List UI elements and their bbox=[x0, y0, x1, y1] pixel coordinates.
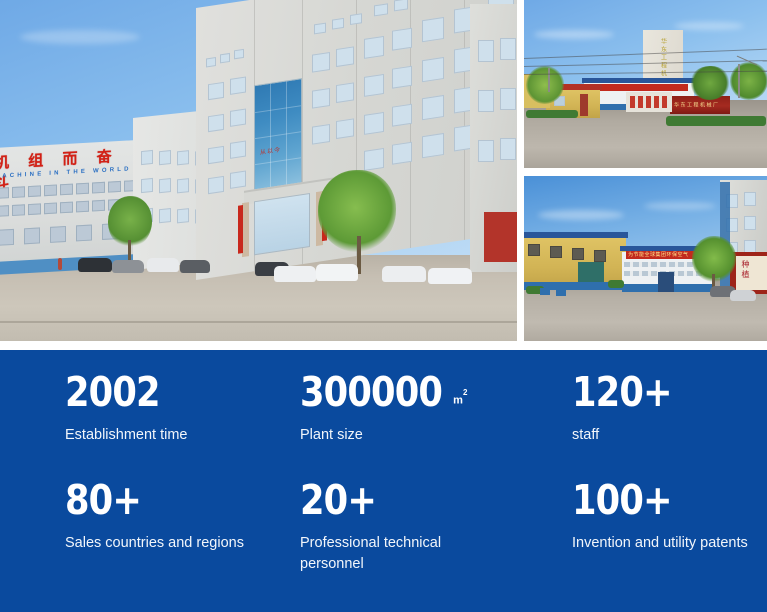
photo-gallery: 机 组 而 奋 斗 MACHINE IN THE WORLD bbox=[0, 0, 767, 341]
main-entrance-door bbox=[254, 193, 310, 255]
parked-car bbox=[428, 268, 472, 284]
red-banner bbox=[238, 205, 243, 254]
glass-curtain-wall: 从以今 bbox=[254, 78, 302, 191]
parked-car bbox=[382, 266, 426, 282]
center-entrance bbox=[658, 272, 674, 292]
parked-car bbox=[180, 260, 210, 273]
parked-car bbox=[78, 258, 112, 272]
factory-sign-wall: 华东工程机械厂 bbox=[670, 96, 730, 114]
cloud bbox=[538, 210, 624, 220]
stat-value-row: 80+ bbox=[65, 480, 300, 521]
stat-value-row: 100+ bbox=[572, 480, 755, 521]
hedge bbox=[608, 280, 624, 288]
blue-bin bbox=[540, 288, 550, 295]
stat-label: Sales countries and regions bbox=[65, 533, 265, 554]
hedge bbox=[526, 110, 578, 118]
stat-establishment-time: 2002 Establishment time bbox=[65, 372, 300, 480]
main-office-building-photo[interactable]: 机 组 而 奋 斗 MACHINE IN THE WORLD bbox=[0, 0, 517, 341]
parked-car bbox=[112, 260, 144, 273]
stat-unit-exponent: 2 bbox=[463, 388, 467, 397]
cloud bbox=[644, 202, 716, 210]
stat-label: Plant size bbox=[300, 425, 500, 446]
stat-value: 20+ bbox=[300, 480, 376, 521]
stat-value: 80+ bbox=[65, 480, 141, 521]
stat-sales-countries: 80+ Sales countries and regions bbox=[65, 480, 300, 575]
red-wall-right bbox=[484, 212, 517, 262]
stat-technical-personnel: 20+ Professional technical personnel bbox=[300, 480, 572, 575]
stat-label: staff bbox=[572, 425, 755, 446]
stat-value: 120+ bbox=[572, 372, 672, 413]
company-stats-panel: 2002 Establishment time 300000 m2 Plant … bbox=[0, 350, 767, 612]
stat-label: Invention and utility patents bbox=[572, 533, 755, 554]
notice-board-panels bbox=[630, 96, 668, 108]
stat-value: 300000 bbox=[300, 372, 442, 413]
factory-entrance-photo[interactable]: 华东工程机械厂 华东工程机械厂 bbox=[524, 0, 767, 168]
cloud bbox=[20, 30, 140, 44]
parked-car bbox=[147, 258, 179, 272]
stat-value-row: 2002 bbox=[65, 372, 300, 413]
stat-label: Establishment time bbox=[65, 425, 265, 446]
stats-grid: 2002 Establishment time 300000 m2 Plant … bbox=[65, 372, 755, 575]
tree-canopy bbox=[730, 62, 767, 100]
roof-trim bbox=[582, 78, 696, 83]
stat-value: 100+ bbox=[572, 480, 672, 521]
stat-label: Professional technical personnel bbox=[300, 533, 500, 575]
utility-pole bbox=[738, 64, 740, 98]
sign-characters: 种植 bbox=[740, 260, 751, 280]
parked-car bbox=[316, 264, 358, 281]
stat-staff: 120+ staff bbox=[572, 372, 755, 480]
guard-house-door bbox=[580, 94, 588, 116]
parked-car bbox=[730, 290, 756, 301]
cloud bbox=[534, 30, 614, 39]
hedge bbox=[666, 116, 766, 126]
parked-car bbox=[274, 266, 316, 282]
stat-patents: 100+ Invention and utility patents bbox=[572, 480, 755, 575]
stat-value-row: 300000 m2 bbox=[300, 372, 572, 413]
workshop-roof bbox=[524, 232, 628, 238]
company-profile-banner: 机 组 而 奋 斗 MACHINE IN THE WORLD bbox=[0, 0, 767, 612]
slogan-text: 为节能全球集团环保空气 bbox=[628, 251, 689, 258]
stat-value-row: 120+ bbox=[572, 372, 755, 413]
pedestrian bbox=[58, 258, 62, 270]
tree-canopy bbox=[526, 66, 564, 104]
factory-sign-text: 华东工程机械厂 bbox=[674, 102, 720, 109]
factory-yard-photo[interactable]: 为节能全球集团环保空气 种植 bbox=[524, 176, 767, 341]
stat-unit: m2 bbox=[453, 393, 467, 407]
blue-bin bbox=[556, 289, 566, 296]
entrance-pillar bbox=[242, 202, 249, 257]
stat-value-row: 20+ bbox=[300, 480, 572, 521]
stat-value: 2002 bbox=[65, 372, 160, 413]
road-line bbox=[0, 321, 517, 323]
red-slogan-banner bbox=[596, 84, 688, 91]
cloud bbox=[674, 22, 744, 30]
stat-unit-text: m bbox=[453, 395, 463, 407]
utility-pole bbox=[548, 68, 550, 92]
stat-plant-size: 300000 m2 Plant size bbox=[300, 372, 572, 480]
